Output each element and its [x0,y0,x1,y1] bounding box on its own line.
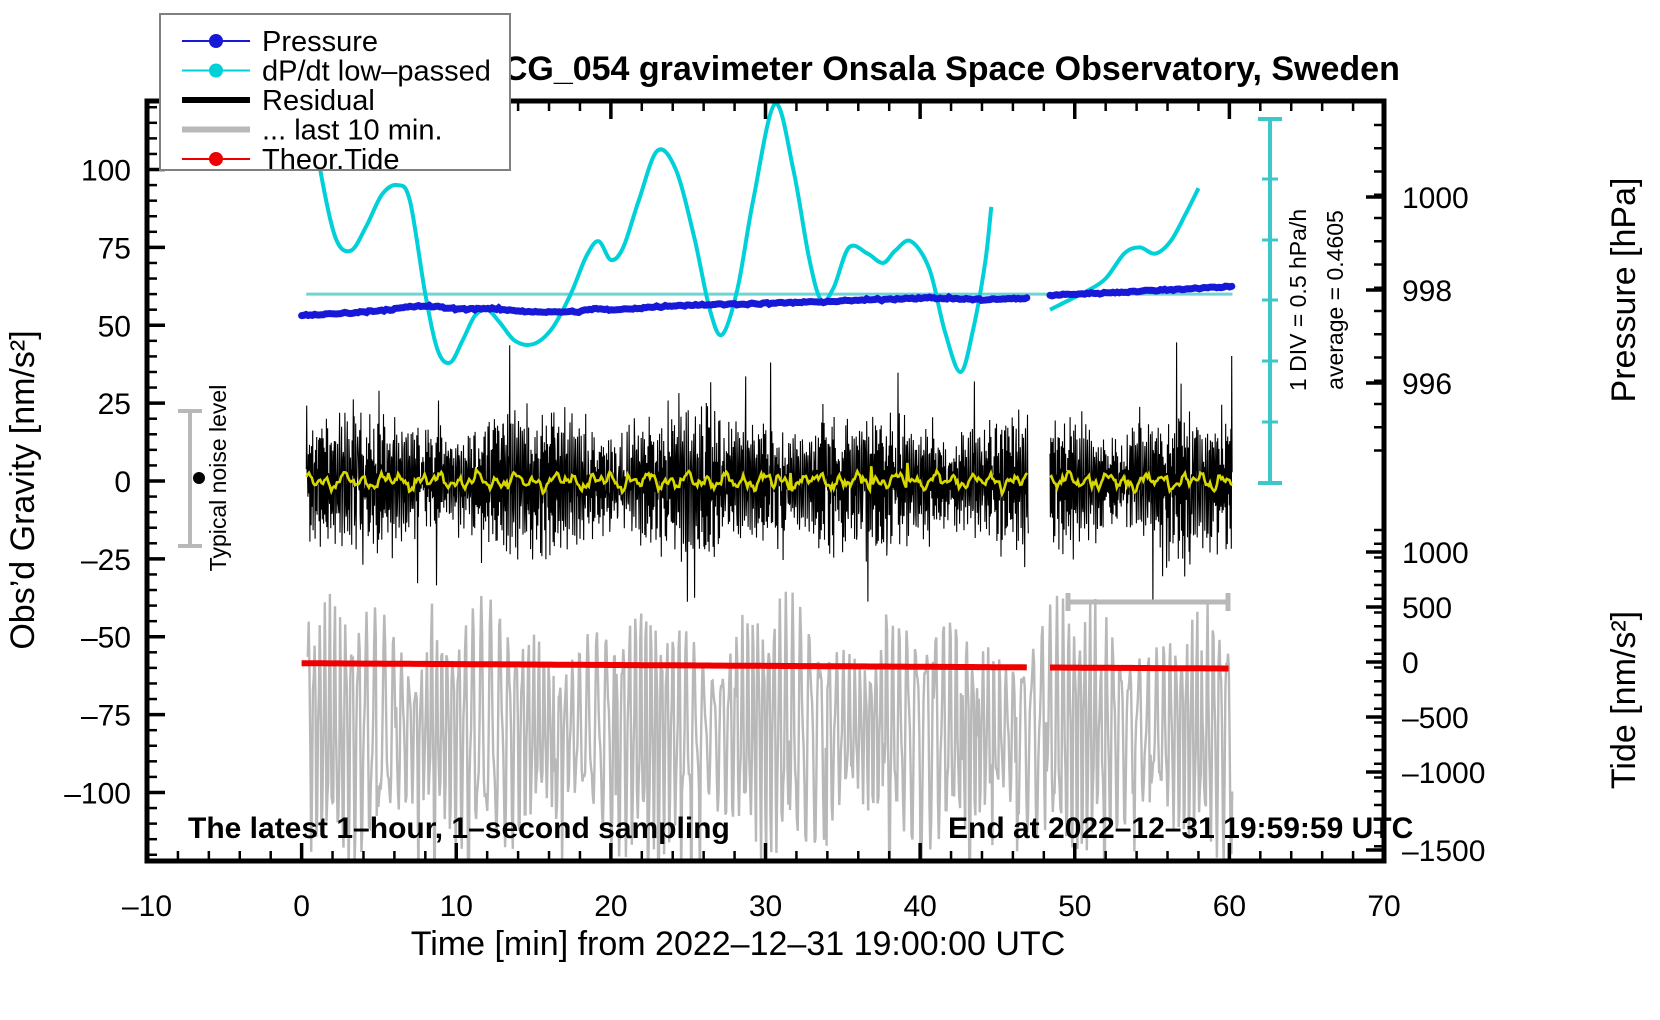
scale-bar-div-label: 1 DIV = 0.5 hPa/h [1285,209,1311,391]
pressure-tick-label: 1000 [1402,182,1469,215]
plot-svg: –100102030405060701007550250–25–50–75–10… [0,0,1660,1020]
legend-label: Theor.Tide [262,144,400,176]
legend-marker [209,64,223,78]
gravimeter-plot-figure: –100102030405060701007550250–25–50–75–10… [0,0,1660,1020]
trace-theoretical-tide-1 [302,663,1027,667]
trace-theoretical-tide-2 [1050,668,1229,669]
pressure-tick-label: 998 [1402,275,1452,308]
x-tick-label: –10 [122,890,172,923]
y-tick-label: 50 [98,310,131,343]
y-tick-label: 75 [98,232,131,265]
x-tick-label: 10 [440,890,473,923]
y-tick-label: 25 [98,388,131,421]
legend-label: Pressure [262,26,378,58]
y-tick-label: 100 [81,155,131,188]
footer-left-label: The latest 1–hour, 1–second sampling [188,812,730,845]
scale-bar-average-label: average = 0.4605 [1322,210,1348,390]
x-tick-label: 60 [1213,890,1246,923]
tide-tick-label: –500 [1402,702,1469,735]
legend-label: ... last 10 min. [262,115,443,147]
footer-right-label: End at 2022–12–31 19:59:59 UTC [948,812,1413,845]
tide-tick-label: 0 [1402,647,1419,680]
y-tick-label: –75 [81,700,131,733]
y-tick-label: –100 [64,777,131,810]
tide-tick-label: –1000 [1402,757,1485,790]
y-axis-title: Obs’d Gravity [nm/s²] [4,330,42,649]
y-tick-label: –25 [81,544,131,577]
pressure-axis-title: Pressure [hPa] [1605,178,1643,403]
x-tick-label: 30 [749,890,782,923]
x-tick-label: 50 [1058,890,1091,923]
legend-marker [209,34,223,48]
x-tick-label: 40 [903,890,936,923]
tide-tick-label: –1500 [1402,835,1485,868]
tide-axis-title: Tide [nm/s²] [1605,611,1643,789]
y-tick-label: –50 [81,622,131,655]
legend-label: Residual [262,85,375,117]
x-tick-label: 70 [1367,890,1400,923]
tide-tick-label: 1000 [1402,537,1469,570]
legend-label: dP/dt low–passed [262,56,491,88]
y-tick-label: 0 [114,466,131,499]
x-tick-label: 0 [293,890,310,923]
page-title: SCG_054 gravimeter Onsala Space Observat… [480,50,1400,88]
pressure-tick-label: 996 [1402,368,1452,401]
typical-noise-level-label: Typical noise level [205,385,231,572]
legend: PressuredP/dt low–passedResidual... last… [160,14,510,176]
tide-tick-label: 500 [1402,592,1452,625]
legend-marker [209,152,223,166]
x-tick-label: 20 [594,890,627,923]
x-axis-title: Time [min] from 2022–12–31 19:00:00 UTC [411,925,1066,963]
